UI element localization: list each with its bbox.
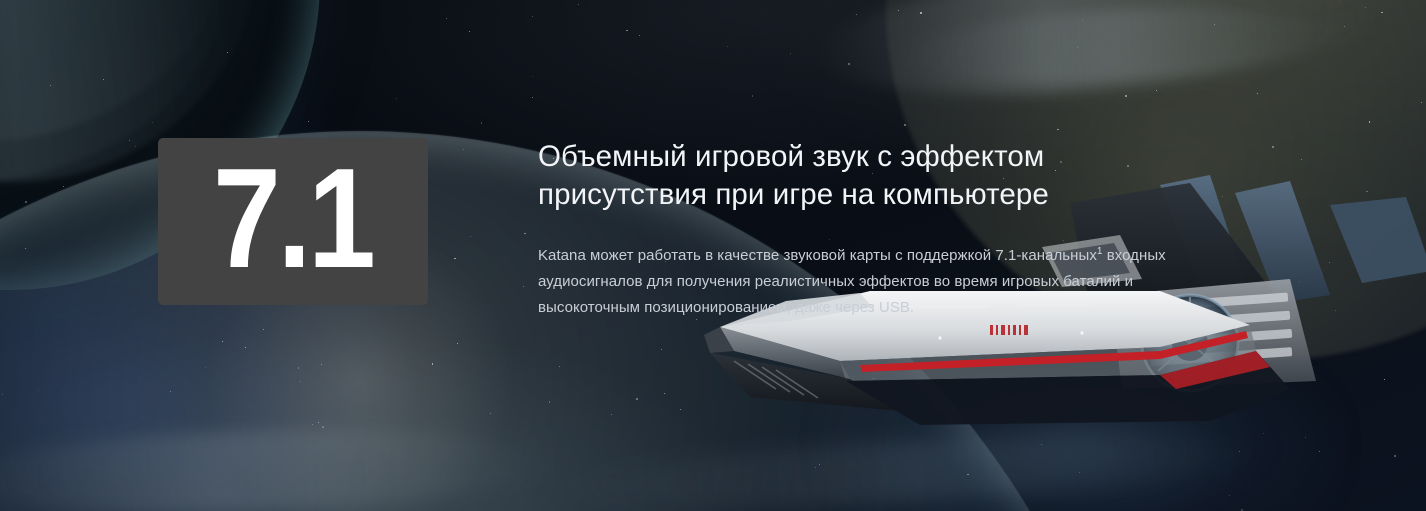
audio-channel-badge: 7.1 bbox=[158, 138, 428, 305]
audio-channel-value: 7.1 bbox=[213, 148, 372, 290]
banner-content: 7.1 Объемный игровой звук с эффектом при… bbox=[0, 0, 1426, 511]
feature-headline: Объемный игровой звук с эффектом присутс… bbox=[538, 138, 1183, 214]
product-feature-banner: 7.1 Объемный игровой звук с эффектом при… bbox=[0, 0, 1426, 511]
feature-text-block: Объемный игровой звук с эффектом присутс… bbox=[538, 138, 1198, 321]
feature-description: Katana может работать в качестве звуково… bbox=[538, 243, 1186, 321]
description-first-part: Katana может работать в качестве звуково… bbox=[538, 247, 1097, 264]
